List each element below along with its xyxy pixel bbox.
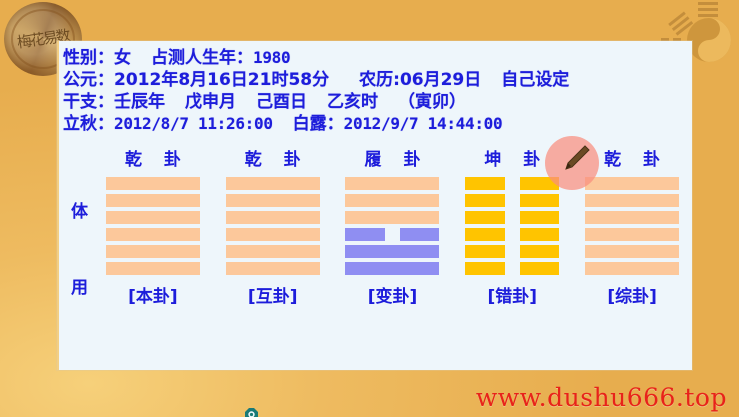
hexagram-footer-label[interactable]: [互卦] bbox=[248, 282, 298, 307]
yao-solid-line[interactable] bbox=[226, 228, 320, 241]
yao-solid-line[interactable] bbox=[226, 177, 320, 190]
yao-segment bbox=[226, 177, 320, 190]
app-root: 梅花易数 bbox=[0, 0, 739, 417]
yao-segment bbox=[106, 194, 200, 207]
yao-broken-line[interactable] bbox=[345, 228, 439, 241]
yao-solid-line[interactable] bbox=[345, 245, 439, 258]
yao-broken-line[interactable] bbox=[465, 211, 559, 224]
yao-solid-line[interactable] bbox=[106, 245, 200, 258]
yao-segment bbox=[345, 194, 439, 207]
info-row-date: 公元：2012年8月16日21时58分农历:06月29日自己设定 bbox=[63, 69, 688, 91]
ganzhi-month: 戊申月 bbox=[185, 92, 236, 112]
yao-segment bbox=[226, 262, 320, 275]
hexagram-column: 履 卦[变卦] bbox=[333, 149, 453, 364]
hexagram-lines bbox=[226, 177, 320, 275]
yao-segment-right bbox=[520, 177, 559, 190]
yao-segment bbox=[106, 228, 200, 241]
yao-segment bbox=[585, 194, 679, 207]
yao-segment-right bbox=[520, 262, 559, 275]
yao-segment bbox=[226, 228, 320, 241]
yao-solid-line[interactable] bbox=[345, 194, 439, 207]
liqiu-value: 2012/8/7 11:26:00 bbox=[114, 114, 273, 133]
yao-segment bbox=[345, 245, 439, 258]
hexagram-lines bbox=[106, 177, 200, 275]
hexagram-column: 乾 卦[互卦] bbox=[213, 149, 333, 364]
hexagram-title: 乾 卦 bbox=[117, 149, 189, 175]
yao-solid-line[interactable] bbox=[345, 211, 439, 224]
birth-year-value: 1980 bbox=[253, 48, 290, 67]
yao-segment bbox=[585, 177, 679, 190]
hexagram-area: 体 用 乾 卦[本卦]乾 卦[互卦]履 卦[变卦]坤 卦[错卦]乾 卦[综卦] bbox=[59, 149, 692, 364]
yao-broken-line[interactable] bbox=[465, 245, 559, 258]
yao-segment bbox=[106, 245, 200, 258]
ganzhi-year: 壬辰年 bbox=[114, 92, 165, 112]
lunar-label: 农历: bbox=[359, 70, 400, 90]
hexagram-title: 坤 卦 bbox=[476, 149, 548, 175]
birth-year-label: 占测人生年： bbox=[151, 48, 253, 68]
yao-solid-line[interactable] bbox=[345, 262, 439, 275]
hexagram-column: 乾 卦[综卦] bbox=[572, 149, 692, 364]
yao-gap bbox=[385, 228, 400, 241]
yao-segment bbox=[226, 245, 320, 258]
yao-solid-line[interactable] bbox=[226, 245, 320, 258]
lunar-value: 06月29日 bbox=[400, 70, 481, 90]
yao-segment bbox=[345, 177, 439, 190]
yao-segment-left bbox=[465, 262, 504, 275]
yao-broken-line[interactable] bbox=[465, 177, 559, 190]
yao-solid-line[interactable] bbox=[226, 262, 320, 275]
hexagram-footer-label[interactable]: [本卦] bbox=[128, 282, 178, 307]
yao-segment-left bbox=[465, 194, 504, 207]
yao-segment-left bbox=[465, 228, 504, 241]
yao-solid-line[interactable] bbox=[585, 228, 679, 241]
yao-solid-line[interactable] bbox=[585, 245, 679, 258]
yao-solid-line[interactable] bbox=[345, 177, 439, 190]
yao-solid-line[interactable] bbox=[106, 228, 200, 241]
yao-segment-right bbox=[520, 228, 559, 241]
hexagram-footer-label[interactable]: [变卦] bbox=[368, 282, 418, 307]
yao-segment bbox=[106, 262, 200, 275]
yao-segment-right bbox=[400, 228, 439, 241]
self-set-button[interactable]: 自己设定 bbox=[501, 70, 569, 90]
yao-segment bbox=[226, 211, 320, 224]
yao-segment bbox=[345, 262, 439, 275]
divination-panel: 性别：女占测人生年：1980 公元：2012年8月16日21时58分农历:06月… bbox=[57, 41, 692, 370]
yao-solid-line[interactable] bbox=[106, 177, 200, 190]
ganzhi-day: 己酉日 bbox=[256, 92, 307, 112]
hexagram-columns: 乾 卦[本卦]乾 卦[互卦]履 卦[变卦]坤 卦[错卦]乾 卦[综卦] bbox=[93, 149, 692, 364]
yao-segment-left bbox=[465, 211, 504, 224]
yao-segment-left bbox=[465, 177, 504, 190]
hexagram-title: 乾 卦 bbox=[237, 149, 309, 175]
yao-gap bbox=[505, 177, 520, 190]
info-row-gender: 性别：女占测人生年：1980 bbox=[63, 47, 688, 69]
gregorian-label: 公元： bbox=[63, 70, 114, 90]
teal-octagon-marker-icon[interactable] bbox=[245, 408, 258, 417]
yao-segment-right bbox=[520, 245, 559, 258]
yao-broken-line[interactable] bbox=[465, 228, 559, 241]
hexagram-column: 乾 卦[本卦] bbox=[93, 149, 213, 364]
ganzhi-hour: 乙亥时 bbox=[327, 92, 378, 112]
yao-solid-line[interactable] bbox=[585, 194, 679, 207]
gender-value: 女 bbox=[114, 48, 131, 68]
gender-label: 性别： bbox=[63, 48, 114, 68]
yao-gap bbox=[505, 262, 520, 275]
hexagram-lines bbox=[465, 177, 559, 275]
hexagram-column: 坤 卦[错卦] bbox=[452, 149, 572, 364]
yao-segment-left bbox=[465, 245, 504, 258]
yao-segment bbox=[585, 262, 679, 275]
yao-solid-line[interactable] bbox=[585, 262, 679, 275]
yao-solid-line[interactable] bbox=[106, 262, 200, 275]
yao-solid-line[interactable] bbox=[585, 211, 679, 224]
label-ti: 体 bbox=[71, 197, 88, 222]
label-yong: 用 bbox=[71, 273, 88, 298]
yao-segment bbox=[106, 211, 200, 224]
hexagram-title: 履 卦 bbox=[357, 149, 429, 175]
gregorian-value: 2012年8月16日21时58分 bbox=[114, 70, 329, 90]
yao-solid-line[interactable] bbox=[106, 194, 200, 207]
bailu-value: 2012/9/7 14:44:00 bbox=[344, 114, 503, 133]
ganzhi-label: 干支： bbox=[63, 92, 114, 112]
info-row-solarterms: 立秋：2012/8/7 11:26:00白露：2012/9/7 14:44:00 bbox=[63, 113, 688, 135]
yao-solid-line[interactable] bbox=[106, 211, 200, 224]
yao-segment-left bbox=[345, 228, 384, 241]
yao-gap bbox=[505, 211, 520, 224]
bailu-label: 白露： bbox=[293, 114, 344, 134]
yao-broken-line[interactable] bbox=[465, 262, 559, 275]
yao-segment bbox=[585, 211, 679, 224]
yao-segment bbox=[585, 245, 679, 258]
hexagram-footer-label[interactable]: [错卦] bbox=[488, 282, 538, 307]
yao-segment bbox=[585, 228, 679, 241]
info-block: 性别：女占测人生年：1980 公元：2012年8月16日21时58分农历:06月… bbox=[63, 47, 688, 135]
site-watermark: www.dushu666.top bbox=[476, 383, 727, 412]
liqiu-label: 立秋： bbox=[63, 114, 114, 134]
yao-gap bbox=[505, 228, 520, 241]
yao-segment bbox=[345, 211, 439, 224]
ganzhi-extra: （寅卯） bbox=[398, 92, 466, 112]
yao-solid-line[interactable] bbox=[585, 177, 679, 190]
yao-segment-right bbox=[520, 211, 559, 224]
yao-gap bbox=[505, 194, 520, 207]
yao-solid-line[interactable] bbox=[226, 194, 320, 207]
yao-gap bbox=[505, 245, 520, 258]
yao-segment-right bbox=[520, 194, 559, 207]
info-row-ganzhi: 干支：壬辰年戊申月己酉日乙亥时（寅卯） bbox=[63, 91, 688, 113]
yao-segment bbox=[226, 194, 320, 207]
yao-segment bbox=[106, 177, 200, 190]
yao-broken-line[interactable] bbox=[465, 194, 559, 207]
hexagram-lines bbox=[345, 177, 439, 275]
hexagram-footer-label[interactable]: [综卦] bbox=[607, 282, 657, 307]
hexagram-lines bbox=[585, 177, 679, 275]
yao-solid-line[interactable] bbox=[226, 211, 320, 224]
hexagram-title: 乾 卦 bbox=[596, 149, 668, 175]
